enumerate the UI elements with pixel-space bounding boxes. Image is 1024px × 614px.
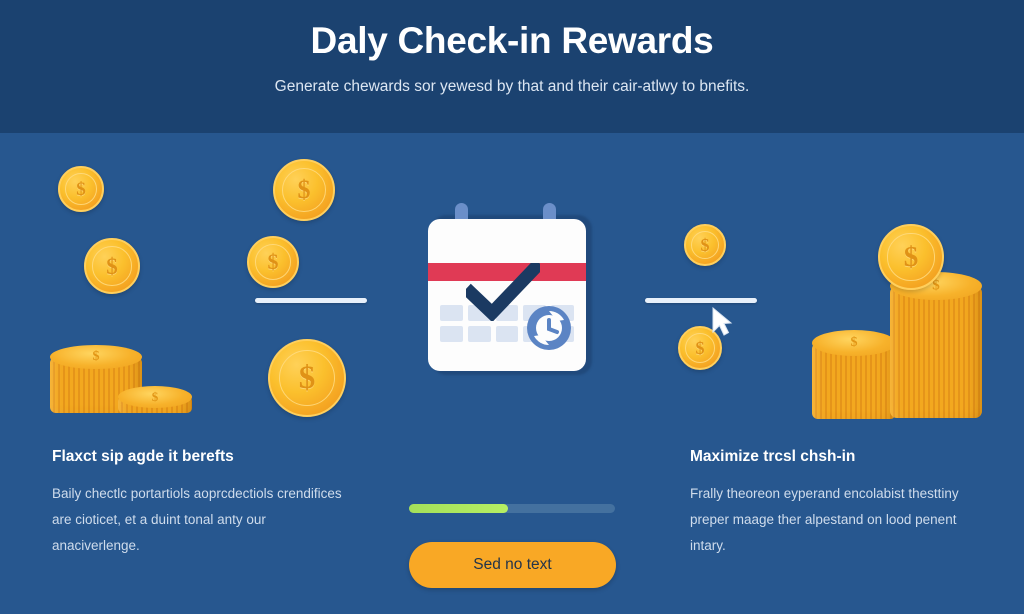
coin-icon: $ xyxy=(247,236,299,288)
coin-icon: $ xyxy=(84,238,140,294)
illustration-area: $ $ $ $ $ $ $ xyxy=(0,133,1024,433)
coin-stack-body xyxy=(890,286,982,418)
divider-right xyxy=(645,298,757,303)
coin-dollar-glyph: $ xyxy=(299,362,316,395)
coin-icon: $ xyxy=(273,159,335,221)
divider-left xyxy=(255,298,367,303)
coin-stack-top: $ xyxy=(118,386,192,408)
feature-heading-left: Flaxct sip agde it berefts xyxy=(52,448,352,467)
coin-icon: $ xyxy=(268,339,346,417)
cta-button[interactable]: Sed no text xyxy=(409,542,616,588)
calendar-icon xyxy=(424,203,594,378)
calendar-cell xyxy=(468,326,491,342)
calendar-cell xyxy=(440,305,463,321)
coin-stack-top: $ xyxy=(50,345,142,369)
coin-dollar-glyph: $ xyxy=(701,236,710,254)
coin-dollar-glyph: $ xyxy=(904,243,919,272)
coin-dollar-glyph: $ xyxy=(152,389,159,405)
page-header: Daly Check-in Rewards Generate chewards … xyxy=(0,0,1024,133)
feature-heading-right: Maximize trcsl chsh-in xyxy=(690,448,990,467)
refresh-badge-icon xyxy=(524,303,574,353)
coin-stack-top: $ xyxy=(812,330,896,356)
progress-bar-fill xyxy=(409,504,508,513)
calendar-cell xyxy=(496,326,519,342)
coin-icon: $ xyxy=(58,166,104,212)
coin-dollar-glyph: $ xyxy=(851,335,858,351)
coin-dollar-glyph: $ xyxy=(76,180,86,199)
page-subtitle: Generate chewards sor yewesd by that and… xyxy=(0,63,1024,97)
coin-dollar-glyph: $ xyxy=(106,255,118,278)
page-title: Daly Check-in Rewards xyxy=(0,0,1024,63)
coin-stack-tall: $ xyxy=(890,272,982,420)
feature-body-right: Frally theoreon eyperand encolabist thes… xyxy=(690,481,990,560)
coin-lying-left: $ xyxy=(118,386,192,422)
coin-dollar-glyph: $ xyxy=(93,349,100,365)
promo-page: Daly Check-in Rewards Generate chewards … xyxy=(0,0,1024,614)
calendar-cell xyxy=(440,326,463,342)
coin-dollar-glyph: $ xyxy=(696,339,705,357)
mouse-cursor-icon xyxy=(711,307,733,337)
coin-icon: $ xyxy=(684,224,726,266)
coin-stack-short: $ xyxy=(812,330,896,420)
feature-column-right: Maximize trcsl chsh-in Frally theoreon e… xyxy=(690,448,990,560)
coin-dollar-glyph: $ xyxy=(298,177,311,203)
progress-bar[interactable] xyxy=(409,504,615,513)
coin-icon: $ xyxy=(878,224,944,290)
feature-body-left: Baily chectlc portartiols aoprcdectiols … xyxy=(52,481,352,560)
feature-column-left: Flaxct sip agde it berefts Baily chectlc… xyxy=(52,448,352,560)
coin-dollar-glyph: $ xyxy=(268,251,279,273)
